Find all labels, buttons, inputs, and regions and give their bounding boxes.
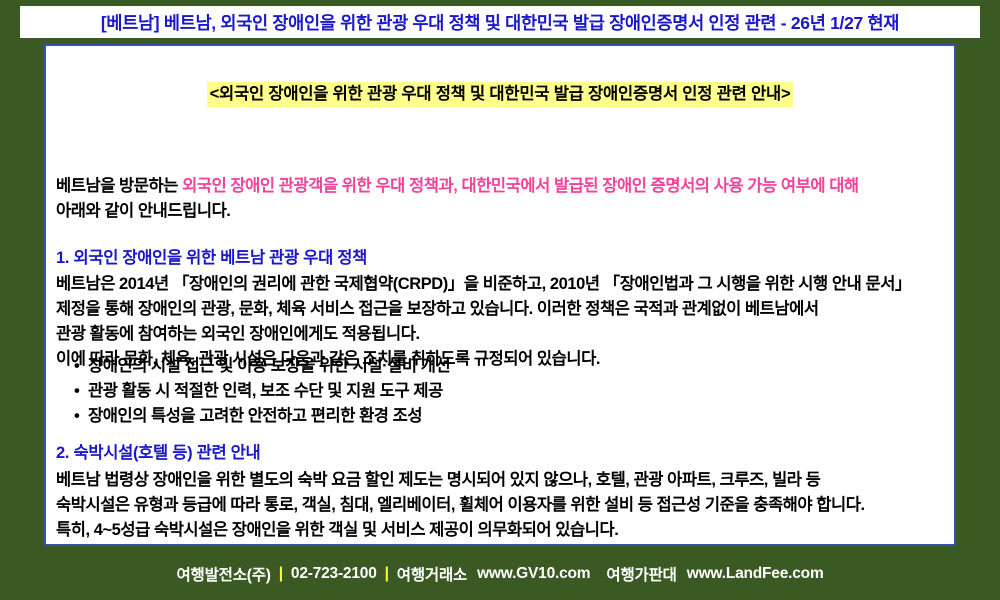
document-title: <외국인 장애인을 위한 관광 우대 정책 및 대한민국 발급 장애인증명서 인… xyxy=(207,82,794,107)
content-inner: <외국인 장애인을 위한 관광 우대 정책 및 대한민국 발급 장애인증명서 인… xyxy=(46,82,954,580)
footer-phone-number[interactable]: 02-723-2100 xyxy=(291,565,377,583)
list-item: •관광 활동 시 적절한 인력, 보조 수단 및 지원 도구 제공 xyxy=(74,379,944,404)
section-1-heading: 1. 외국인 장애인을 위한 베트남 관광 우대 정책 xyxy=(56,244,367,268)
section-1-bullet-list: •장애인의 시설 접근 및 이용 보장을 위한 시설·설비 개선 •관광 활동 … xyxy=(74,354,944,429)
intro-text-black-tail: 아래와 같이 안내드립니다. xyxy=(56,202,230,220)
document-title-row: <외국인 장애인을 위한 관광 우대 정책 및 대한민국 발급 장애인증명서 인… xyxy=(46,82,954,107)
bullet-dot-icon: • xyxy=(74,379,88,404)
footer-separator: | xyxy=(271,565,291,583)
section-2-line-2: 숙박시설은 유형과 등급에 따라 통로, 객실, 침대, 엘리베이터, 휠체어 … xyxy=(56,496,865,514)
bullet-text: 장애인의 시설 접근 및 이용 보장을 위한 시설·설비 개선 xyxy=(88,357,450,375)
footer-bar: 여행발전소(주) | 02-723-2100 | 여행거래소 www.GV10.… xyxy=(0,548,1000,600)
footer-separator: | xyxy=(377,565,397,583)
footer-contact-line: 여행발전소(주) | 02-723-2100 | 여행거래소 www.GV10.… xyxy=(176,563,823,585)
bullet-text: 관광 활동 시 적절한 인력, 보조 수단 및 지원 도구 제공 xyxy=(88,382,443,400)
intro-text-pink: 외국인 장애인 관광객을 위한 우대 정책과, 대한민국에서 발급된 장애인 증… xyxy=(182,177,859,195)
list-item: •장애인의 특성을 고려한 안전하고 편리한 환경 조성 xyxy=(74,404,944,429)
footer-brand-1-label: 여행거래소 xyxy=(397,563,467,585)
footer-brand-2-url[interactable]: www.LandFee.com xyxy=(677,565,824,583)
poster-page: [베트남] 베트남, 외국인 장애인을 위한 관광 우대 정책 및 대한민국 발… xyxy=(0,0,1000,600)
section-2-body: 베트남 법령상 장애인을 위한 별도의 숙박 요금 할인 제도는 명시되어 있지… xyxy=(56,468,951,543)
intro-text-black-lead: 베트남을 방문하는 xyxy=(56,177,182,195)
bullet-dot-icon: • xyxy=(74,404,88,429)
bullet-dot-icon: • xyxy=(74,354,88,379)
section-2-heading: 2. 숙박시설(호텔 등) 관련 안내 xyxy=(56,439,260,463)
section-1-line-3: 관광 활동에 참여하는 외국인 장애인에게도 적용됩니다. xyxy=(56,325,420,343)
header-title: [베트남] 베트남, 외국인 장애인을 위한 관광 우대 정책 및 대한민국 발… xyxy=(101,10,899,35)
section-2-line-3: 특히, 4~5성급 숙박시설은 장애인을 위한 객실 및 서비스 제공이 의무화… xyxy=(56,521,618,539)
content-panel: <외국인 장애인을 위한 관광 우대 정책 및 대한민국 발급 장애인증명서 인… xyxy=(44,44,956,546)
section-1-line-1: 베트남은 2014년 「장애인의 권리에 관한 국제협약(CRPD)」을 비준하… xyxy=(56,275,911,293)
footer-brand-2-label: 여행가판대 xyxy=(590,563,676,585)
section-1-line-2: 제정을 통해 장애인의 관광, 문화, 체육 서비스 접근을 보장하고 있습니다… xyxy=(56,300,819,318)
bullet-text: 장애인의 특성을 고려한 안전하고 편리한 환경 조성 xyxy=(88,407,422,425)
footer-company-name: 여행발전소(주) xyxy=(176,563,270,585)
list-item: •장애인의 시설 접근 및 이용 보장을 위한 시설·설비 개선 xyxy=(74,354,944,379)
section-2-line-1: 베트남 법령상 장애인을 위한 별도의 숙박 요금 할인 제도는 명시되어 있지… xyxy=(56,471,820,489)
header-bar: [베트남] 베트남, 외국인 장애인을 위한 관광 우대 정책 및 대한민국 발… xyxy=(20,6,980,38)
footer-brand-1-url[interactable]: www.GV10.com xyxy=(467,565,590,583)
intro-paragraph: 베트남을 방문하는 외국인 장애인 관광객을 위한 우대 정책과, 대한민국에서… xyxy=(56,174,951,224)
